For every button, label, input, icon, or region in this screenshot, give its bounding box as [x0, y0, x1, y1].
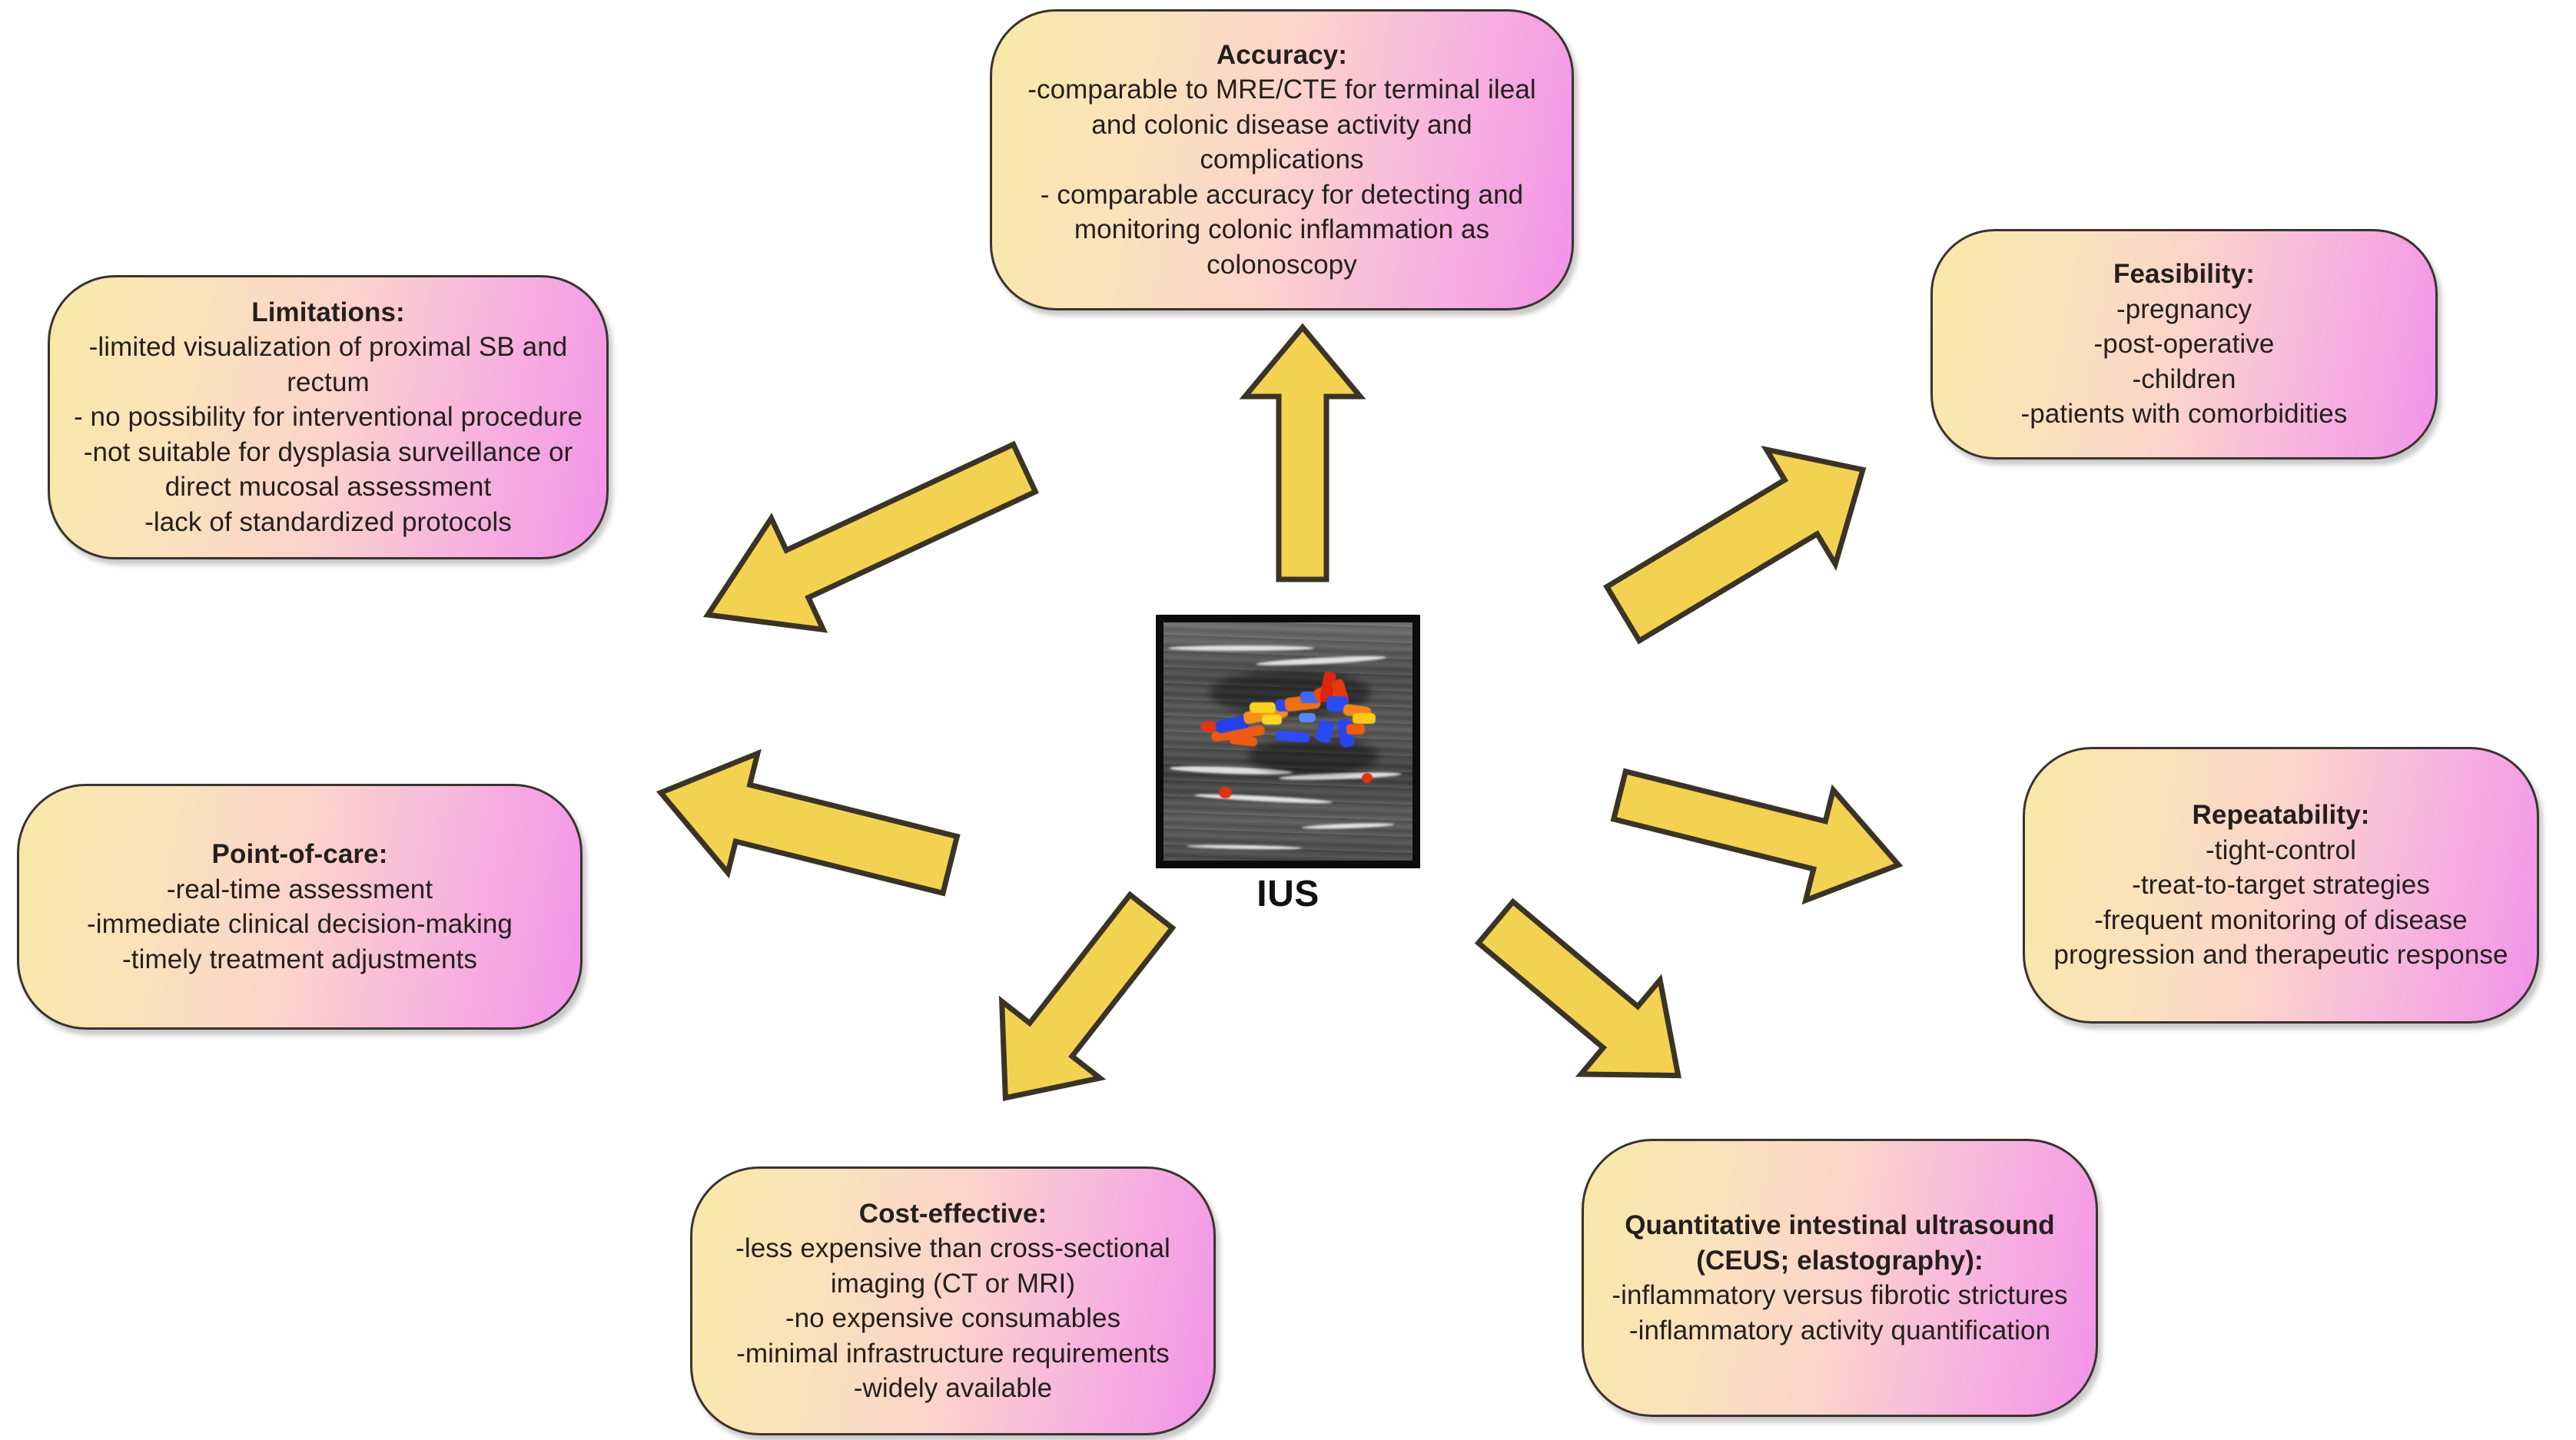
- node-limitations-line-3: - no possibility for interventional proc…: [70, 400, 586, 435]
- arrow-down-right: [1460, 884, 1714, 1114]
- node-accuracy-line-4: monitoring colonic inflammation as: [1012, 212, 1552, 247]
- node-limitations-line-2: rectum: [70, 365, 586, 400]
- arrow-up-right: [1589, 430, 1897, 653]
- node-limitations-line-6: -lack of standardized protocols: [70, 505, 586, 540]
- node-feasibility-line-2: -post-operative: [1953, 327, 2415, 362]
- node-repeatability-line-2: -treat-to-target strategies: [2045, 868, 2517, 903]
- node-quantitative-title: Quantitative intestinal ultrasound: [1604, 1208, 2076, 1243]
- node-quantitative-subtitle: (CEUS; elastography):: [1604, 1243, 2076, 1279]
- node-cost-effective[interactable]: Cost-effective: -less expensive than cro…: [690, 1166, 1216, 1435]
- node-feasibility-title: Feasibility:: [1953, 257, 2415, 292]
- center-label: IUS: [1156, 873, 1420, 915]
- node-accuracy-title: Accuracy:: [1012, 38, 1552, 73]
- node-feasibility-line-4: -patients with comorbidities: [1953, 396, 2415, 432]
- node-point-of-care-line-2: -immediate clinical decision-making: [39, 907, 560, 942]
- node-cost-effective-line-4: -minimal infrastructure requirements: [712, 1336, 1193, 1372]
- node-point-of-care-line-1: -real-time assessment: [39, 872, 560, 907]
- node-quantitative-line-2: -inflammatory activity quantification: [1604, 1313, 2076, 1349]
- node-quantitative-line-1: -inflammatory versus fibrotic strictures: [1604, 1278, 2076, 1313]
- arrow-up-left: [676, 430, 1053, 653]
- node-accuracy-line-2: and colonic disease activity and complic…: [1012, 108, 1552, 178]
- node-accuracy-line-1: -comparable to MRE/CTE for terminal ilea…: [1012, 72, 1552, 108]
- intestinal-ultrasound-doppler-image: [1156, 615, 1420, 868]
- node-repeatability-title: Repeatability:: [2045, 798, 2517, 833]
- node-limitations-line-5: direct mucosal assessment: [70, 469, 586, 505]
- node-repeatability[interactable]: Repeatability: -tight-control -treat-to-…: [2023, 747, 2539, 1024]
- node-cost-effective-title: Cost-effective:: [712, 1196, 1193, 1232]
- node-accuracy-line-3: - comparable accuracy for detecting and: [1012, 178, 1552, 213]
- node-repeatability-line-1: -tight-control: [2045, 833, 2517, 868]
- arrow-left: [642, 736, 965, 921]
- node-point-of-care[interactable]: Point-of-care: -real-time assessment -im…: [17, 784, 583, 1030]
- node-limitations[interactable]: Limitations: -limited visualization of p…: [48, 275, 609, 559]
- arrow-up: [1237, 323, 1368, 584]
- node-repeatability-line-4: progression and therapeutic response: [2045, 937, 2517, 973]
- node-feasibility-line-3: -children: [1953, 362, 2415, 397]
- node-feasibility[interactable]: Feasibility: -pregnancy -post-operative …: [1930, 229, 2438, 460]
- node-limitations-title: Limitations:: [70, 295, 586, 330]
- node-point-of-care-title: Point-of-care:: [39, 837, 560, 872]
- node-point-of-care-line-3: -timely treatment adjustments: [39, 942, 560, 977]
- node-accuracy[interactable]: Accuracy: -comparable to MRE/CTE for ter…: [990, 9, 1574, 310]
- node-repeatability-line-3: -frequent monitoring of disease: [2045, 903, 2517, 938]
- node-limitations-line-4: -not suitable for dysplasia surveillance…: [70, 435, 586, 470]
- node-cost-effective-line-2: imaging (CT or MRI): [712, 1266, 1193, 1302]
- node-limitations-line-1: -limited visualization of proximal SB an…: [70, 330, 586, 365]
- node-cost-effective-line-5: -widely available: [712, 1371, 1193, 1406]
- center-node: IUS: [1156, 615, 1420, 868]
- node-quantitative-intestinal-ultrasound[interactable]: Quantitative intestinal ultrasound (CEUS…: [1582, 1139, 2098, 1417]
- node-feasibility-line-1: -pregnancy: [1953, 292, 2415, 327]
- arrow-down-left: [953, 884, 1207, 1122]
- node-cost-effective-line-1: -less expensive than cross-sectional: [712, 1231, 1193, 1266]
- node-cost-effective-line-3: -no expensive consumables: [712, 1301, 1193, 1336]
- node-accuracy-line-5: colonoscopy: [1012, 247, 1552, 283]
- diagram-canvas: IUS Accuracy: -comparable to MRE/CTE for…: [0, 0, 2576, 1440]
